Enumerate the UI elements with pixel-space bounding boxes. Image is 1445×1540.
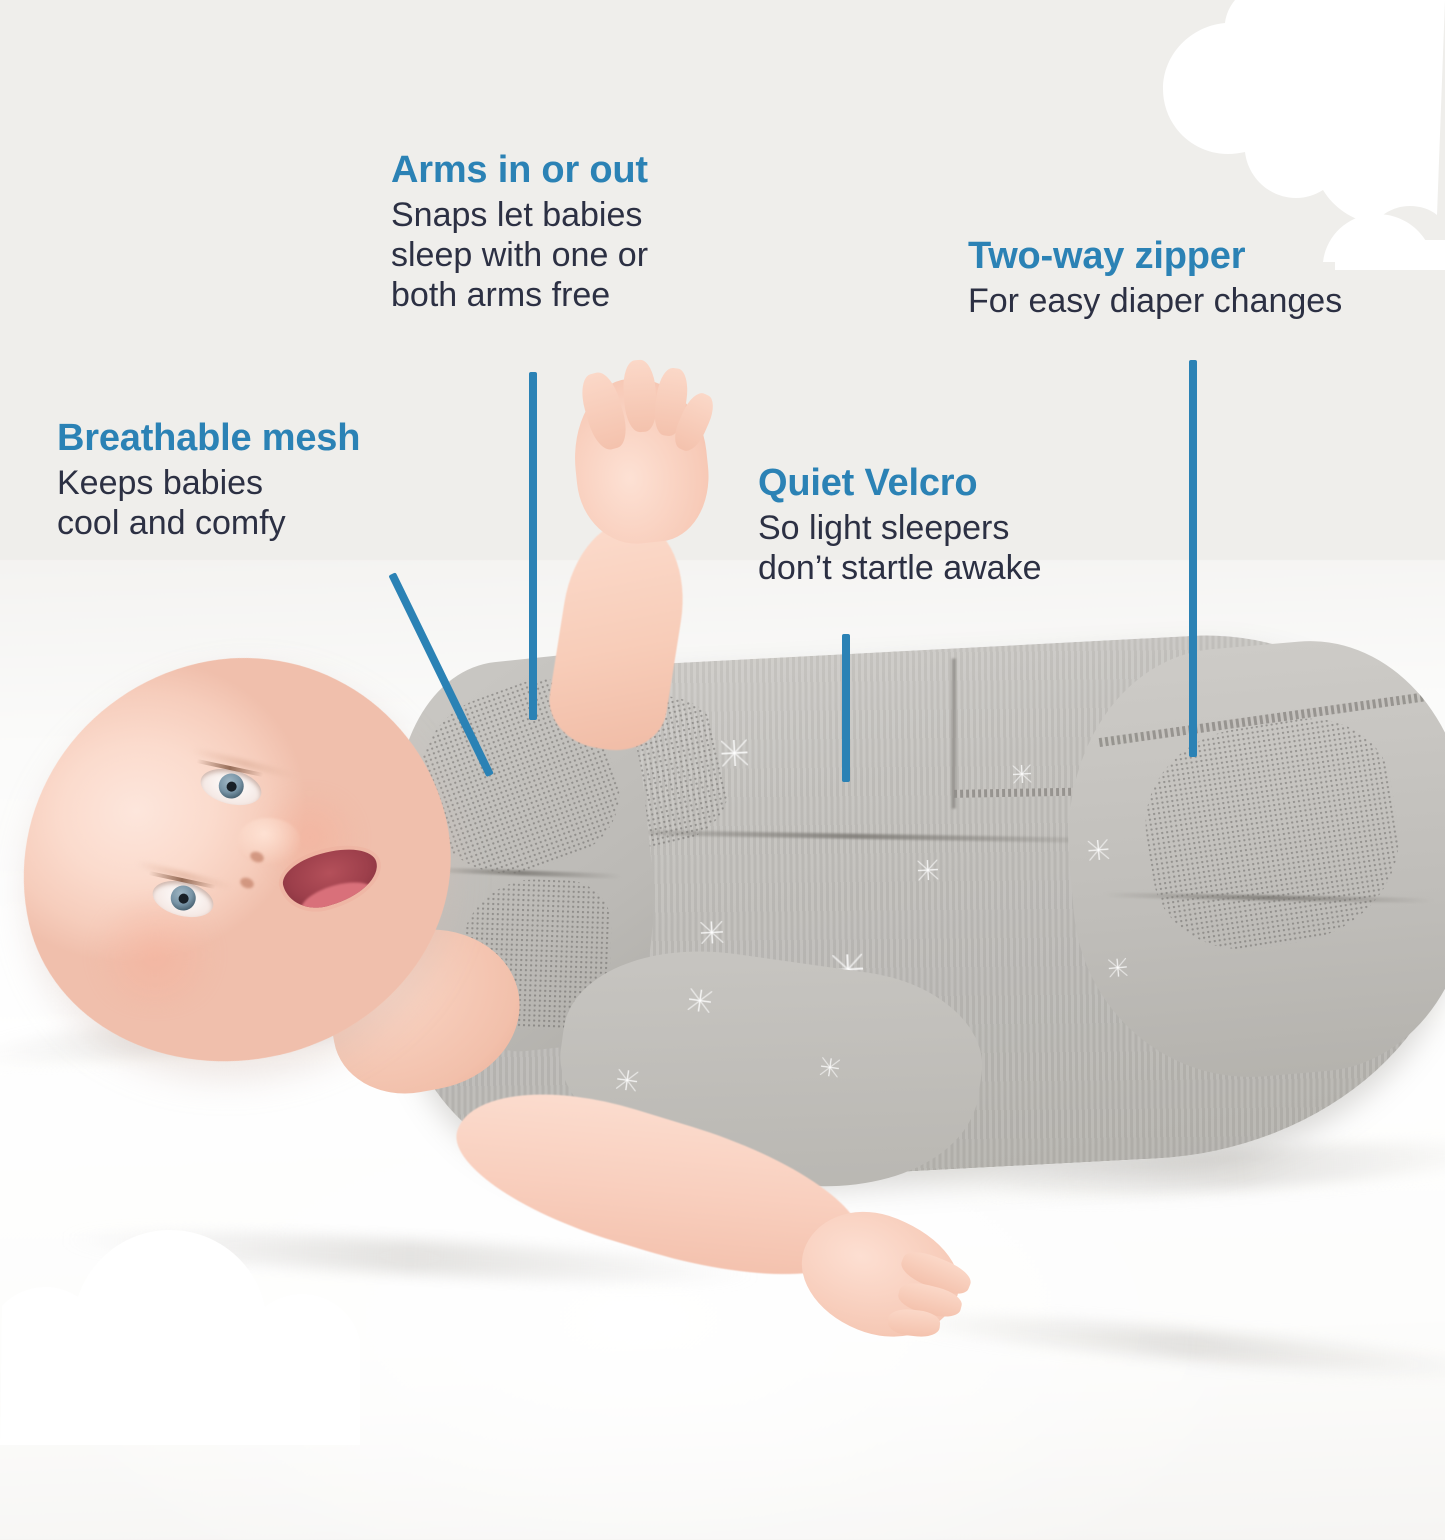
callout-two-way-zipper: Two-way zipper For easy diaper changes [968,236,1342,321]
baby-cheek [80,900,230,1010]
callout-arms-in-or-out: Arms in or out Snaps let babies sleep wi… [391,150,648,316]
star-print [616,1069,639,1092]
star-print [700,921,723,944]
star-print [1108,958,1128,978]
callout-title-arms-in-or-out: Arms in or out [391,150,648,190]
star-print [820,1057,840,1077]
leader-line-arms-in-or-out [529,372,537,720]
baby-iris [168,883,198,913]
baby-iris [216,771,246,801]
callout-title-two-way-zipper: Two-way zipper [968,236,1342,276]
baby-pupil [177,892,189,904]
leader-line-two-way-zipper [1189,360,1197,757]
callout-body-quiet-velcro: So light sleepers don’t startle awake [758,508,1042,588]
infographic-canvas: Breathable mesh Keeps babies cool and co… [0,0,1445,1445]
product-photo [0,0,1445,1445]
callout-body-breathable-mesh: Keeps babies cool and comfy [57,463,360,543]
leader-line-quiet-velcro [842,634,850,782]
sack-seam [951,659,957,809]
star-print [1013,765,1032,784]
callout-title-quiet-velcro: Quiet Velcro [758,463,1042,503]
callout-body-arms-in-or-out: Snaps let babies sleep with one or both … [391,195,648,315]
star-print [1088,839,1110,861]
star-print [917,860,938,881]
callout-title-breathable-mesh: Breathable mesh [57,418,360,458]
callout-body-two-way-zipper: For easy diaper changes [968,281,1342,321]
baby-pupil [225,780,237,792]
star-print [688,988,713,1013]
star-print [721,739,748,766]
callout-breathable-mesh: Breathable mesh Keeps babies cool and co… [57,418,360,543]
callout-quiet-velcro: Quiet Velcro So light sleepers don’t sta… [758,463,1042,588]
mesh-panel-hip [1132,706,1413,962]
